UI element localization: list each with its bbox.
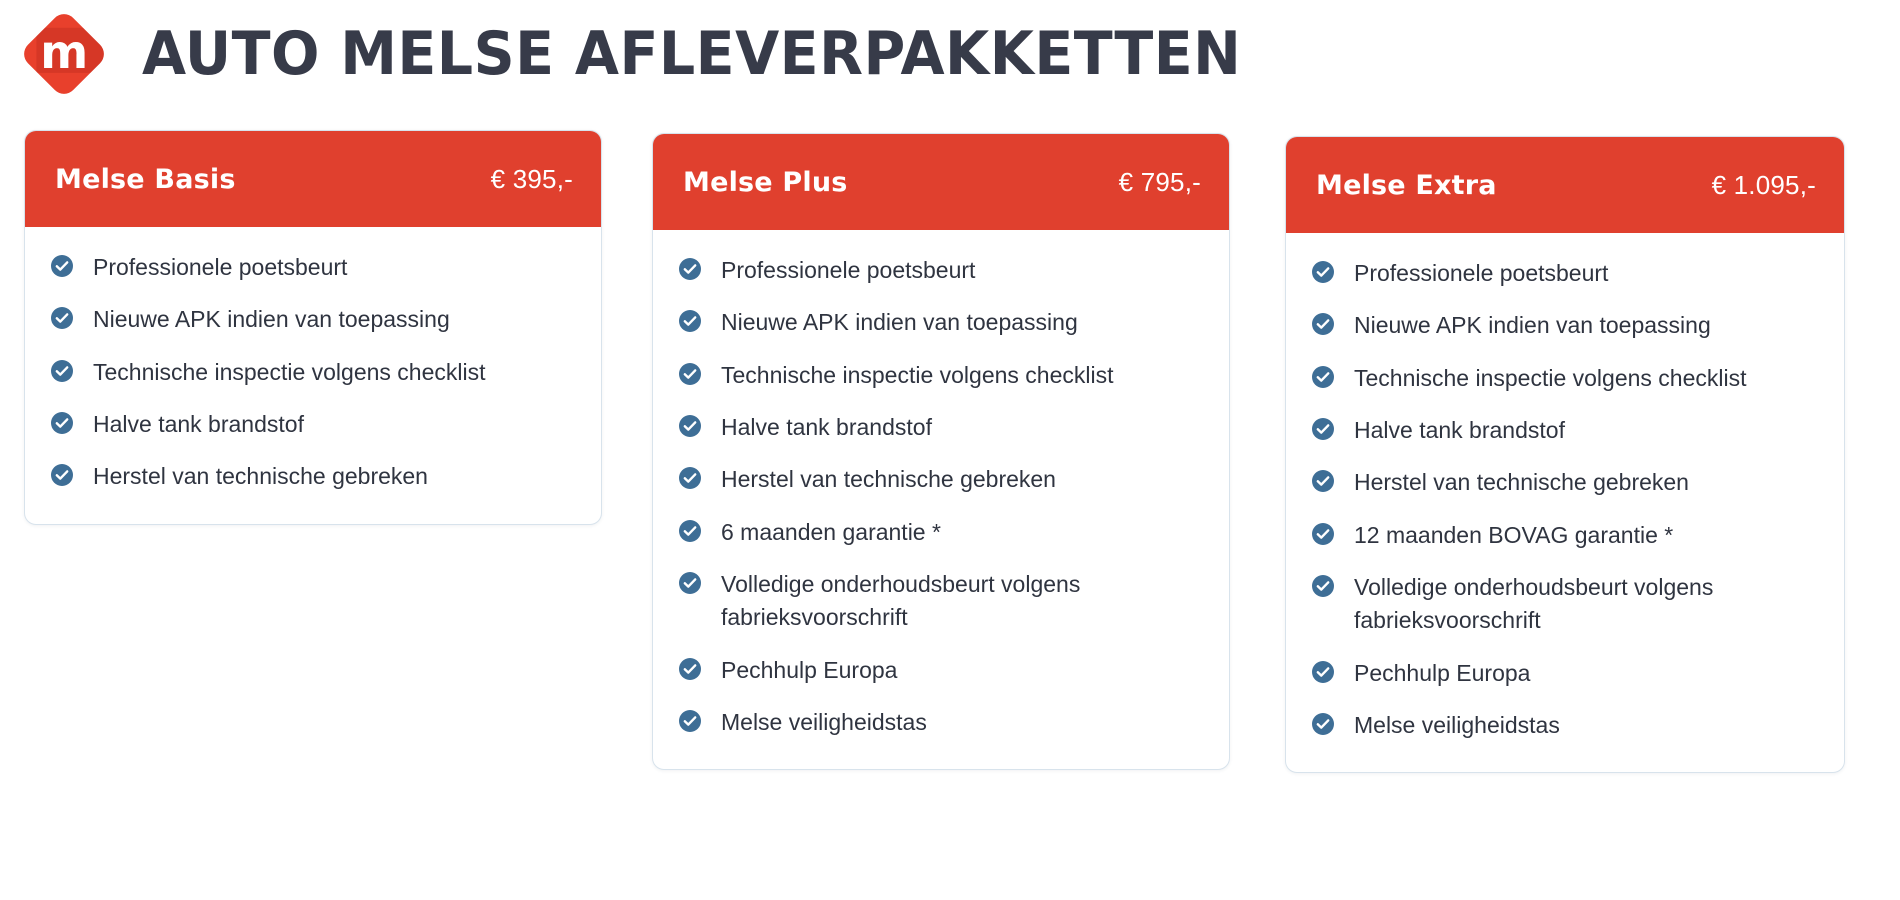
check-circle-icon <box>679 310 701 332</box>
list-item-label: Professionele poetsbeurt <box>1354 257 1608 290</box>
check-circle-icon <box>1312 470 1334 492</box>
card-title: Melse Plus <box>683 169 848 196</box>
list-item: Herstel van technische gebreken <box>1312 466 1818 499</box>
page-title: AUTO MELSE AFLEVERPAKKETTEN <box>142 24 1241 84</box>
list-item: Pechhulp Europa <box>679 654 1203 687</box>
list-item-label: Nieuwe APK indien van toepassing <box>1354 309 1711 342</box>
list-item: Professionele poetsbeurt <box>1312 257 1818 290</box>
pricing-page: m AUTO MELSE AFLEVERPAKKETTEN Melse Basi… <box>0 0 1900 900</box>
check-circle-icon <box>679 572 701 594</box>
list-item-label: Professionele poetsbeurt <box>93 251 347 284</box>
list-item: 12 maanden BOVAG garantie * <box>1312 519 1818 552</box>
card-header: Melse Plus € 795,- <box>653 134 1229 230</box>
check-circle-icon <box>51 464 73 486</box>
list-item-label: Volledige onderhoudsbeurt volgens fabrie… <box>721 568 1151 635</box>
check-circle-icon <box>679 363 701 385</box>
check-circle-icon <box>679 467 701 489</box>
list-item: Halve tank brandstof <box>51 408 575 441</box>
check-circle-icon <box>1312 661 1334 683</box>
list-item: Nieuwe APK indien van toepassing <box>51 303 575 336</box>
list-item: Halve tank brandstof <box>1312 414 1818 447</box>
list-item: Herstel van technische gebreken <box>51 460 575 493</box>
list-item: Professionele poetsbeurt <box>679 254 1203 287</box>
check-circle-icon <box>51 255 73 277</box>
check-circle-icon <box>1312 261 1334 283</box>
list-item: Technische inspectie volgens checklist <box>679 359 1203 392</box>
list-item-label: Halve tank brandstof <box>721 411 932 444</box>
list-item-label: Technische inspectie volgens checklist <box>721 359 1113 392</box>
list-item: Halve tank brandstof <box>679 411 1203 444</box>
pricing-card-plus[interactable]: Melse Plus € 795,- Professionele poetsbe… <box>652 133 1230 770</box>
melse-logo: m <box>18 8 110 100</box>
list-item: Herstel van technische gebreken <box>679 463 1203 496</box>
list-item-label: Halve tank brandstof <box>1354 414 1565 447</box>
card-feature-list: Professionele poetsbeurt Nieuwe APK indi… <box>1286 233 1844 772</box>
list-item-label: Herstel van technische gebreken <box>721 463 1056 496</box>
check-circle-icon <box>1312 575 1334 597</box>
list-item: Professionele poetsbeurt <box>51 251 575 284</box>
list-item: Nieuwe APK indien van toepassing <box>679 306 1203 339</box>
list-item: Melse veiligheidstas <box>1312 709 1818 742</box>
pricing-card-extra[interactable]: Melse Extra € 1.095,- Professionele poet… <box>1285 136 1845 773</box>
check-circle-icon <box>1312 313 1334 335</box>
check-circle-icon <box>679 258 701 280</box>
check-circle-icon <box>1312 418 1334 440</box>
check-circle-icon <box>679 415 701 437</box>
check-circle-icon <box>1312 366 1334 388</box>
list-item: Volledige onderhoudsbeurt volgens fabrie… <box>679 568 1203 635</box>
card-price: € 395,- <box>491 166 573 192</box>
card-header: Melse Basis € 395,- <box>25 131 601 227</box>
list-item-label: Volledige onderhoudsbeurt volgens fabrie… <box>1354 571 1784 638</box>
list-item-label: Halve tank brandstof <box>93 408 304 441</box>
card-feature-list: Professionele poetsbeurt Nieuwe APK indi… <box>25 227 601 524</box>
list-item-label: Herstel van technische gebreken <box>1354 466 1689 499</box>
card-price: € 1.095,- <box>1712 172 1816 198</box>
list-item-label: Pechhulp Europa <box>721 654 897 687</box>
list-item-label: Professionele poetsbeurt <box>721 254 975 287</box>
list-item-label: Melse veiligheidstas <box>1354 709 1560 742</box>
list-item: Volledige onderhoudsbeurt volgens fabrie… <box>1312 571 1818 638</box>
pricing-card-basis[interactable]: Melse Basis € 395,- Professionele poetsb… <box>24 130 602 525</box>
page-header: m AUTO MELSE AFLEVERPAKKETTEN <box>18 6 1299 102</box>
list-item: Nieuwe APK indien van toepassing <box>1312 309 1818 342</box>
check-circle-icon <box>1312 523 1334 545</box>
list-item-label: Technische inspectie volgens checklist <box>93 356 485 389</box>
list-item-label: Technische inspectie volgens checklist <box>1354 362 1746 395</box>
check-circle-icon <box>51 412 73 434</box>
logo-letter-m: m <box>18 8 110 100</box>
card-feature-list: Professionele poetsbeurt Nieuwe APK indi… <box>653 230 1229 769</box>
card-title: Melse Basis <box>55 166 236 193</box>
list-item-label: 6 maanden garantie * <box>721 516 941 549</box>
check-circle-icon <box>51 360 73 382</box>
check-circle-icon <box>51 307 73 329</box>
check-circle-icon <box>679 710 701 732</box>
list-item: Pechhulp Europa <box>1312 657 1818 690</box>
list-item-label: Melse veiligheidstas <box>721 706 927 739</box>
list-item-label: Nieuwe APK indien van toepassing <box>93 303 450 336</box>
check-circle-icon <box>679 658 701 680</box>
card-title: Melse Extra <box>1316 172 1497 199</box>
list-item: Technische inspectie volgens checklist <box>51 356 575 389</box>
list-item-label: Pechhulp Europa <box>1354 657 1530 690</box>
list-item: 6 maanden garantie * <box>679 516 1203 549</box>
list-item-label: Herstel van technische gebreken <box>93 460 428 493</box>
card-header: Melse Extra € 1.095,- <box>1286 137 1844 233</box>
check-circle-icon <box>1312 713 1334 735</box>
list-item: Melse veiligheidstas <box>679 706 1203 739</box>
list-item-label: 12 maanden BOVAG garantie * <box>1354 519 1673 552</box>
card-price: € 795,- <box>1119 169 1201 195</box>
list-item-label: Nieuwe APK indien van toepassing <box>721 306 1078 339</box>
list-item: Technische inspectie volgens checklist <box>1312 362 1818 395</box>
check-circle-icon <box>679 520 701 542</box>
